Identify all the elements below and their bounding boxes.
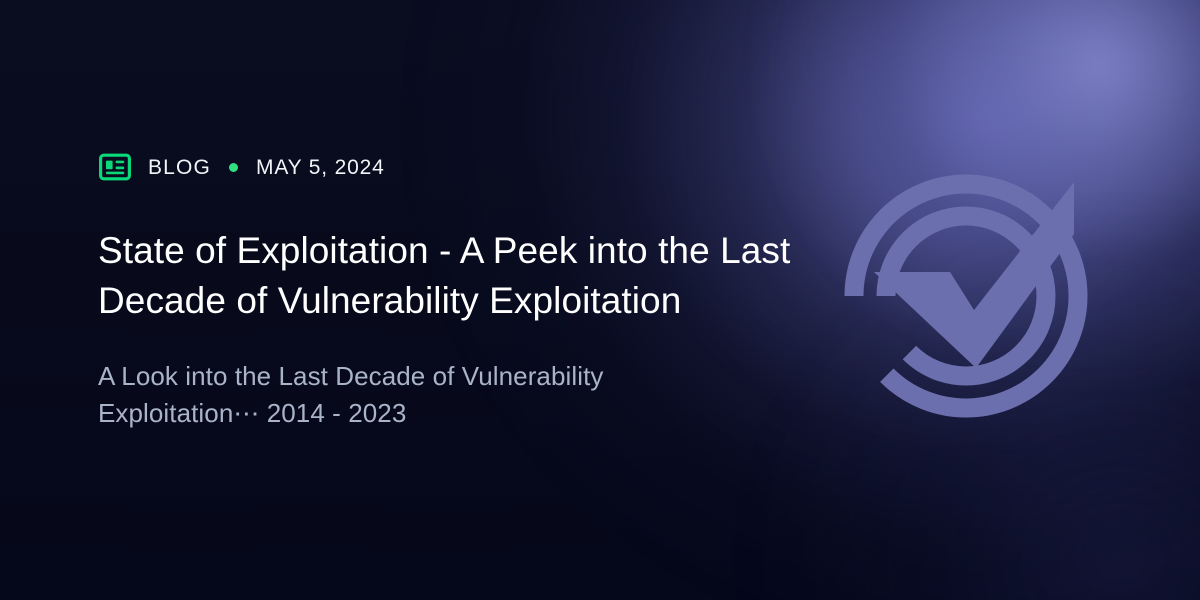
vulncheck-circle-check-icon [838, 168, 1094, 424]
page-title: State of Exploitation - A Peek into the … [98, 226, 798, 325]
brand-logo [838, 168, 1094, 424]
publish-date: MAY 5, 2024 [256, 157, 385, 178]
meta-row: BLOG MAY 5, 2024 [98, 150, 798, 184]
page-subtitle: A Look into the Last Decade of Vulnerabi… [98, 358, 768, 432]
blog-share-card: BLOG MAY 5, 2024 State of Exploitation -… [0, 0, 1200, 600]
blog-article-icon [98, 150, 132, 184]
bullet-dot-icon [229, 163, 238, 172]
meta-category-label: BLOG [148, 157, 211, 178]
card-content: BLOG MAY 5, 2024 State of Exploitation -… [98, 150, 798, 458]
